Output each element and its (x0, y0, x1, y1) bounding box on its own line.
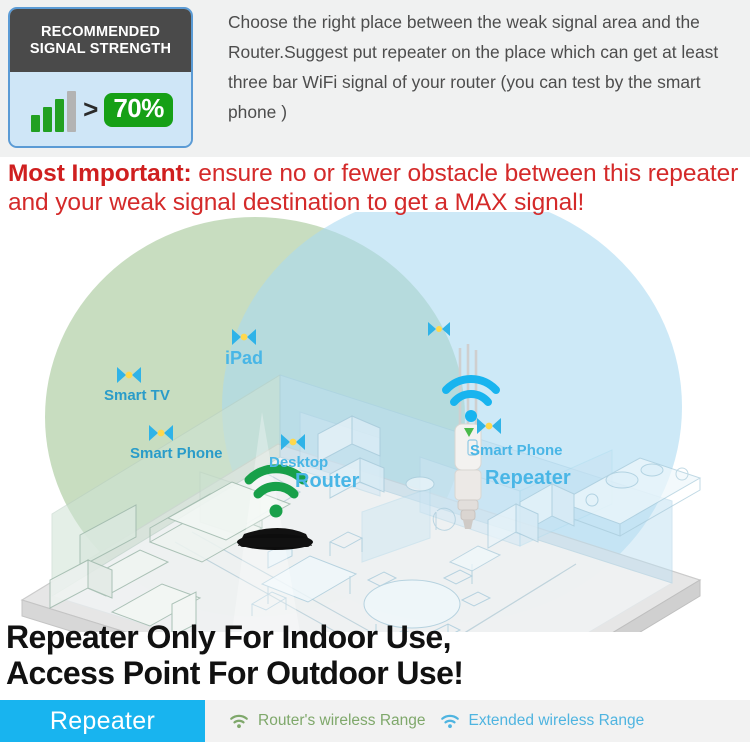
wifi-icon (229, 713, 249, 729)
repeater-label: Repeater (485, 467, 571, 489)
legend-items: Router's wireless Range Extended wireles… (205, 700, 750, 742)
legend-repeater-tag: Repeater (0, 700, 205, 742)
infographic-page: RECOMMENDED SIGNAL STRENGTH > 70% Choose… (0, 0, 750, 750)
recommended-signal-strength-badge: RECOMMENDED SIGNAL STRENGTH > 70% (8, 7, 193, 148)
floorplan-diagram: Router (0, 212, 750, 632)
signal-bars-icon (28, 88, 76, 132)
indoor-outdoor-headline: Repeater Only For Indoor Use, Access Poi… (6, 620, 750, 692)
legend-bar: Repeater Router's wireless Range Extende… (0, 700, 750, 742)
greater-than-icon: > (83, 96, 98, 122)
instructions-text: Choose the right place between the weak … (228, 8, 740, 128)
most-important-warning: Most Important: ensure no or fewer obsta… (8, 160, 750, 218)
router-wifi-dot (270, 505, 283, 518)
device-label-smart-phone-left: Smart Phone (130, 445, 223, 462)
badge-title: RECOMMENDED SIGNAL STRENGTH (10, 9, 191, 72)
bottom-strip (0, 742, 750, 750)
legend-item-router-range: Router's wireless Range (229, 712, 426, 730)
percent-threshold-chip: 70% (104, 93, 173, 126)
device-label-desktop: Desktop (269, 454, 328, 471)
signal-bar-1 (31, 115, 40, 132)
headline-line2: Access Point For Outdoor Use! (6, 656, 750, 692)
signal-bar-3 (55, 99, 64, 132)
device-label-ipad: iPad (225, 348, 263, 368)
device-label-smart-phone-right: Smart Phone (470, 442, 563, 459)
repeater-wifi-dot (465, 410, 477, 422)
warning-lead: Most Important: (8, 160, 192, 187)
legend-label-extended-range: Extended wireless Range (469, 712, 645, 730)
badge-body: > 70% (10, 72, 191, 148)
device-label-smart-tv: Smart TV (104, 387, 170, 404)
signal-bar-2 (43, 107, 52, 132)
headline-line1: Repeater Only For Indoor Use, (6, 620, 750, 656)
legend-item-extended-range: Extended wireless Range (440, 712, 645, 730)
router-label: Router (295, 470, 360, 492)
signal-bar-4 (67, 91, 76, 132)
legend-label-router-range: Router's wireless Range (258, 712, 426, 730)
badge-title-line1: RECOMMENDED (41, 24, 160, 40)
header-band: RECOMMENDED SIGNAL STRENGTH > 70% Choose… (0, 0, 750, 157)
wifi-icon (440, 713, 460, 729)
badge-title-line2: SIGNAL STRENGTH (30, 41, 171, 57)
